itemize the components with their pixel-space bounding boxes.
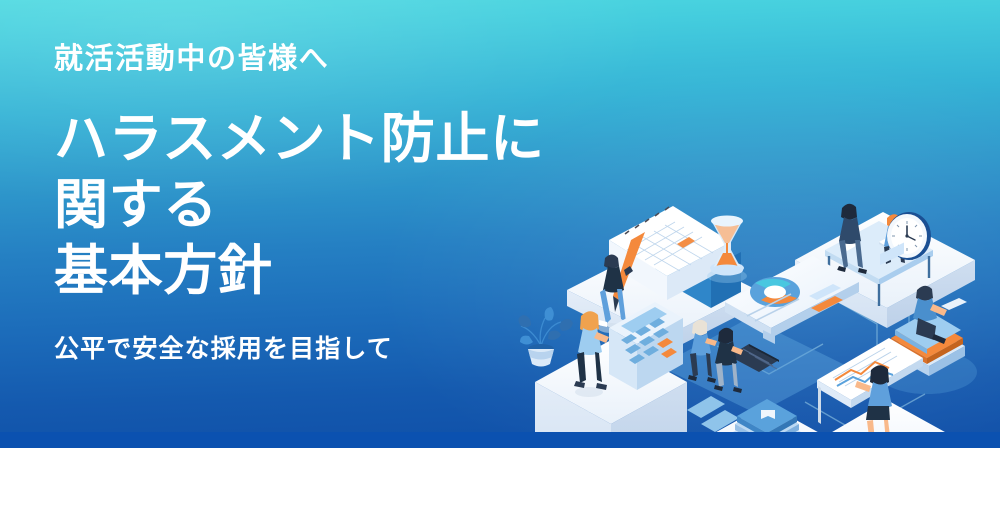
- page-title: ハラスメント防止に関する 基本方針: [54, 107, 594, 305]
- headline-line-2: 基本方針: [54, 239, 594, 305]
- tagline-text: 公平で安全な採用を目指して: [54, 334, 594, 364]
- headline: ハラスメント防止に関する 基本方針: [54, 107, 594, 305]
- footer-blue-rule: [0, 432, 1000, 448]
- footer-bar: medix: [0, 448, 1000, 520]
- eyebrow-text: 就活活動中の皆様へ: [54, 42, 594, 77]
- headline-line-1: ハラスメント防止に関する: [54, 107, 594, 239]
- harassment-policy-banner: 就活活動中の皆様へ ハラスメント防止に関する 基本方針 公平で安全な採用を目指し…: [0, 0, 1000, 520]
- banner-copy: 就活活動中の皆様へ ハラスメント防止に関する 基本方針 公平で安全な採用を目指し…: [54, 42, 594, 364]
